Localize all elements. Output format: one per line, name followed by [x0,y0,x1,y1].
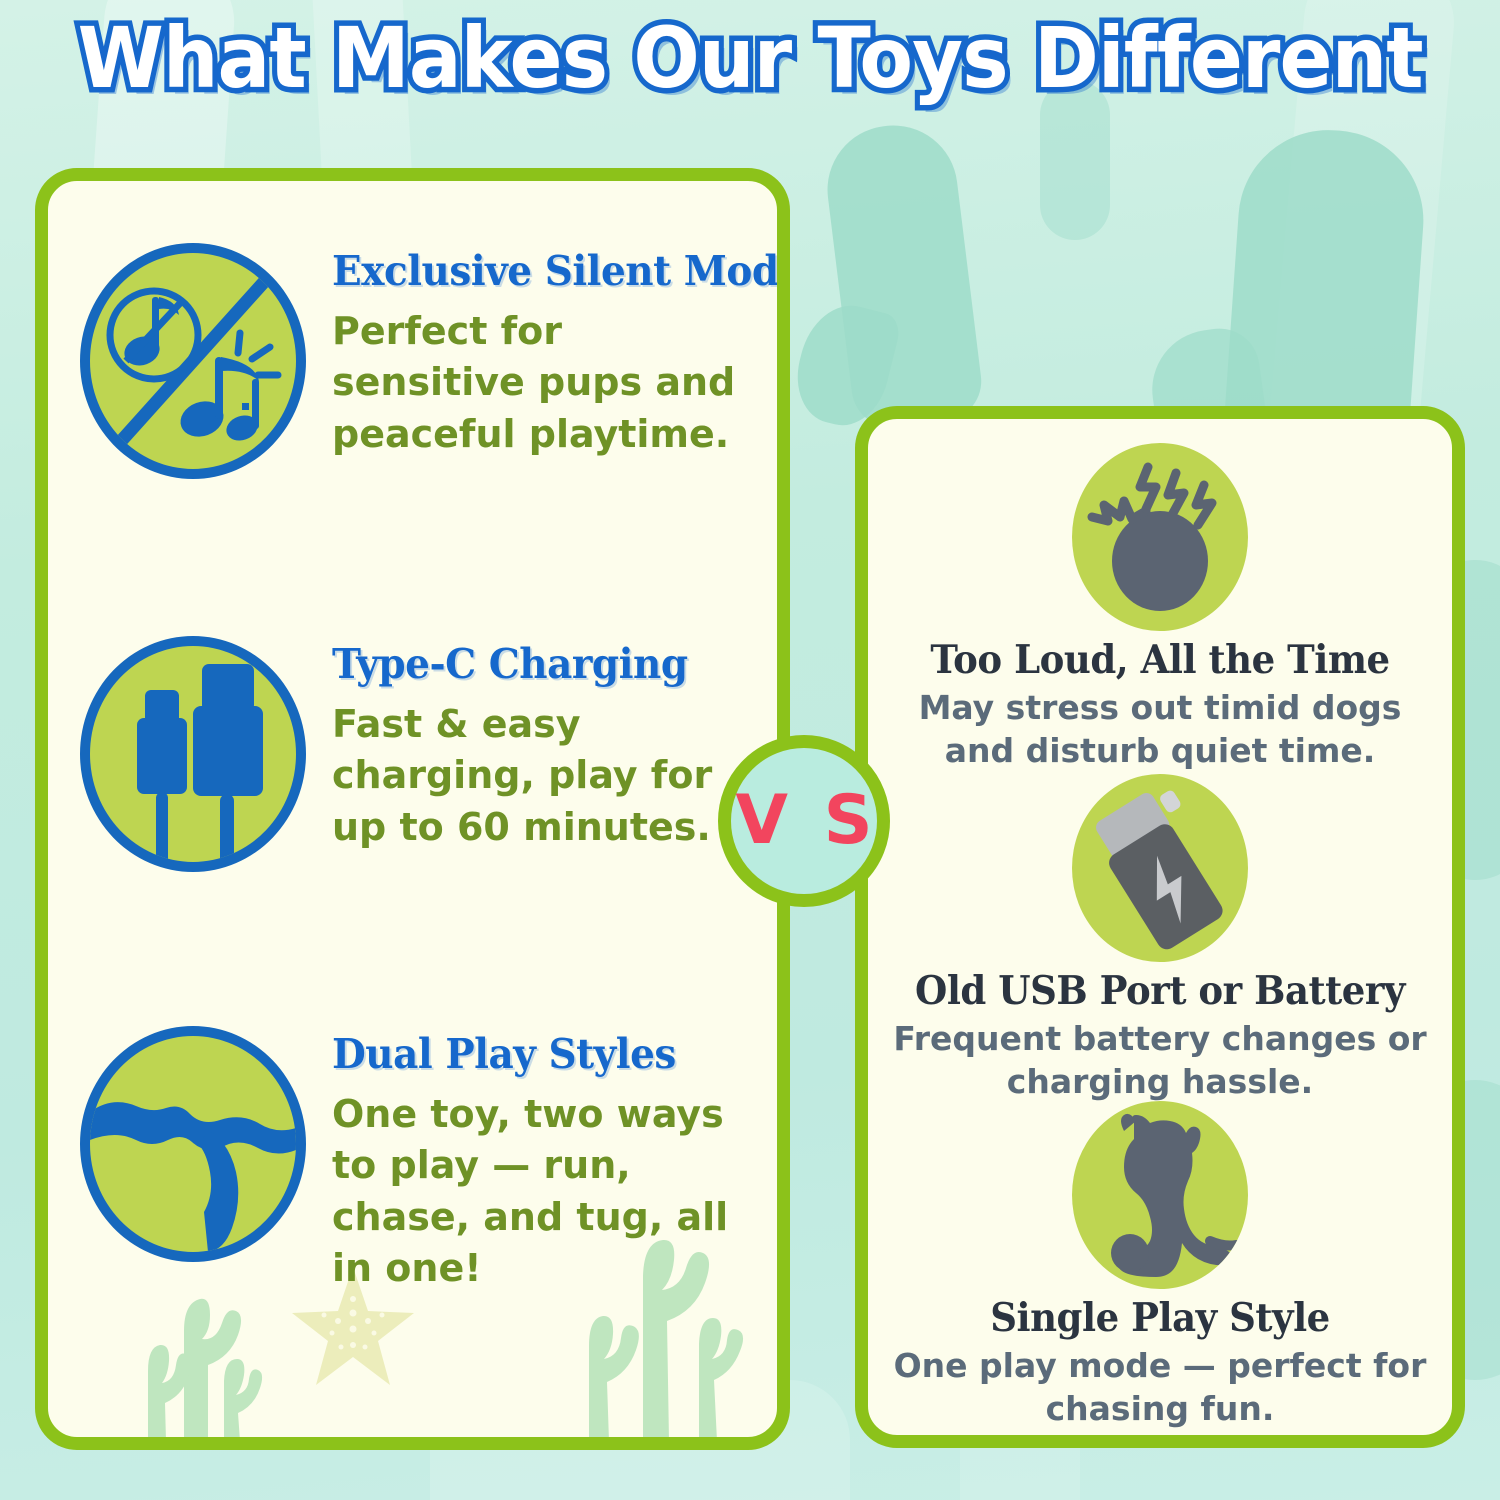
other-toys-card: Too Loud, All the Time May stress out ti… [855,406,1465,1448]
feature-body: Perfect for sensitive pups and peaceful … [332,306,762,460]
feature-row-silent-mode: Exclusive Silent Mode Perfect for sensit… [80,243,770,479]
no-sound-music-note-icon [80,243,306,479]
drawback-heading: Old USB Port or Battery [883,970,1438,1014]
feature-text-silent-mode: Exclusive Silent Mode Perfect for sensit… [332,243,790,460]
page-title-container: What Makes Our Toys Different [0,14,1500,102]
feature-heading: Dual Play Styles [332,1032,741,1077]
feature-heading: Type-C Charging [332,642,741,687]
feature-heading: Exclusive Silent Mode [332,249,790,294]
drawback-block-too-loud: Too Loud, All the Time May stress out ti… [868,443,1452,772]
battery-icon [1072,774,1248,962]
feature-body: Fast & easy charging, play for up to 60 … [332,699,762,853]
feature-text-dual-play-styles: Dual Play Styles One toy, two ways to pl… [332,1026,762,1294]
drawback-body: One play mode — perfect for chasing fun. [868,1345,1452,1431]
feature-row-dual-play-styles: Dual Play Styles One toy, two ways to pl… [80,1026,770,1294]
drawback-body: Frequent battery changes or charging has… [868,1018,1452,1104]
drawback-heading: Too Loud, All the Time [883,639,1438,683]
versus-label: V S [735,787,878,855]
page-title: What Makes Our Toys Different [77,14,1422,102]
infographic-canvas: What Makes Our Toys Different [0,0,1500,1500]
feature-text-type-c-charging: Type-C Charging Fast & easy charging, pl… [332,636,762,853]
versus-badge: V S [718,735,890,907]
loud-noisy-ball-icon [1072,443,1248,631]
feature-row-type-c-charging: Type-C Charging Fast & easy charging, pl… [80,636,770,872]
feature-body: One toy, two ways to play — run, chase, … [332,1089,762,1294]
dog-with-ball-icon [1072,1101,1248,1289]
drawback-block-old-usb-battery: Old USB Port or Battery Frequent battery… [868,774,1452,1103]
our-toys-card: Exclusive Silent Mode Perfect for sensit… [35,168,790,1450]
drawback-block-single-play-style: Single Play Style One play mode — perfec… [868,1101,1452,1430]
usb-type-c-cable-icon [80,636,306,872]
drawback-heading: Single Play Style [883,1297,1438,1341]
globe-world-icon [80,1026,306,1262]
drawback-body: May stress out timid dogs and disturb qu… [868,687,1452,773]
